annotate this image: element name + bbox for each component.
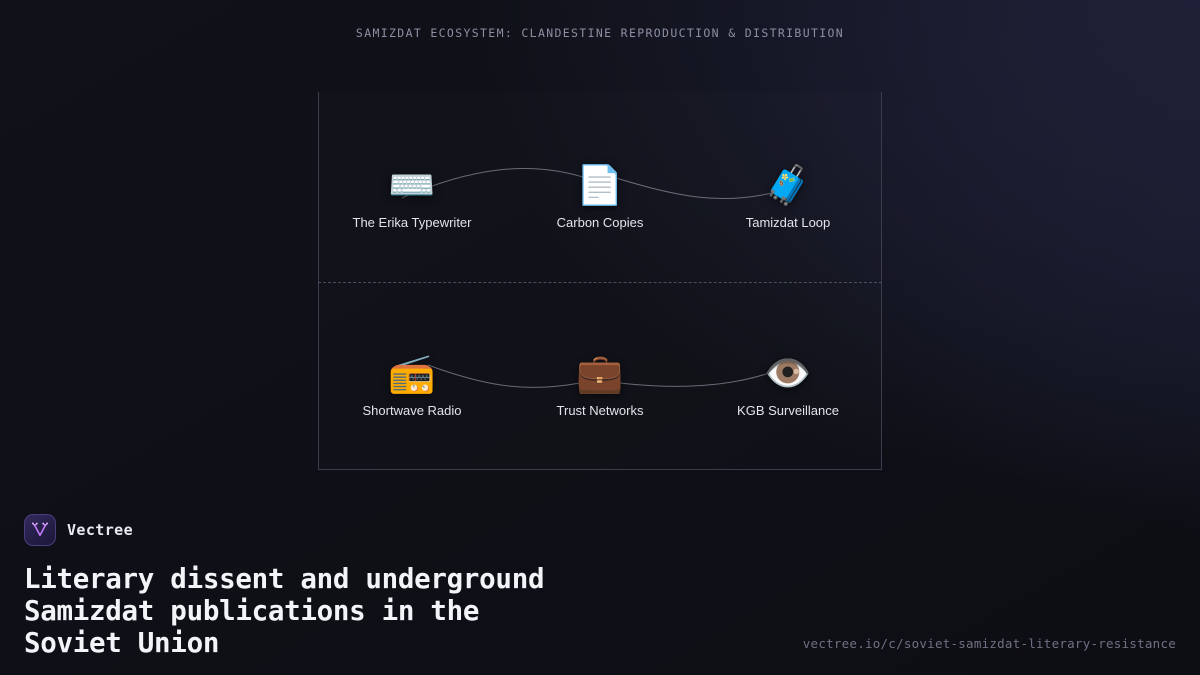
document-icon: 📄 <box>525 162 675 208</box>
node-label: Trust Networks <box>525 403 675 418</box>
node-kgb-surveillance[interactable]: 👁️KGB Surveillance <box>713 350 863 418</box>
vectree-logo <box>24 514 56 546</box>
edge-layer <box>0 0 1200 500</box>
share-url: vectree.io/c/soviet-samizdat-literary-re… <box>803 636 1176 651</box>
node-label: Tamizdat Loop <box>713 215 863 230</box>
keyboard-icon: ⌨️ <box>337 162 487 208</box>
node-label: KGB Surveillance <box>713 403 863 418</box>
brand-name: Vectree <box>67 521 133 539</box>
luggage-icon: 🧳 <box>713 162 863 208</box>
node-carbon-copies[interactable]: 📄Carbon Copies <box>525 162 675 230</box>
node-label: Carbon Copies <box>525 215 675 230</box>
diagram-canvas: SAMIZDAT ECOSYSTEM: CLANDESTINE REPRODUC… <box>0 0 1200 500</box>
node-the-erika-typewriter[interactable]: ⌨️The Erika Typewriter <box>337 162 487 230</box>
brand[interactable]: Vectree <box>24 514 1176 546</box>
eye-icon: 👁️ <box>713 350 863 396</box>
node-shortwave-radio[interactable]: 📻Shortwave Radio <box>337 350 487 418</box>
footer: Vectree Literary dissent and underground… <box>0 500 1200 675</box>
node-tamizdat-loop[interactable]: 🧳Tamizdat Loop <box>713 162 863 230</box>
vectree-tree-icon <box>31 521 49 539</box>
radio-icon: 📻 <box>337 350 487 396</box>
node-trust-networks[interactable]: 💼Trust Networks <box>525 350 675 418</box>
briefcase-icon: 💼 <box>525 350 675 396</box>
node-label: The Erika Typewriter <box>337 215 487 230</box>
node-label: Shortwave Radio <box>337 403 487 418</box>
page-headline: Literary dissent and underground Samizda… <box>24 563 784 659</box>
